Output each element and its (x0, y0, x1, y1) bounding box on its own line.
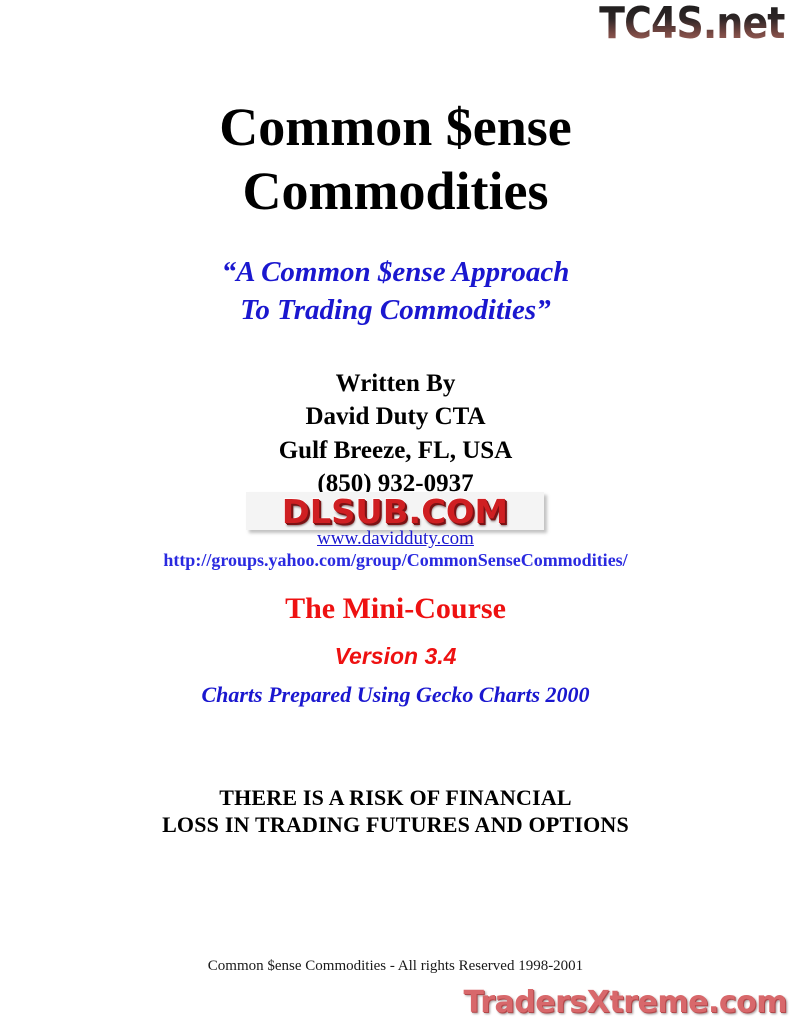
author-block: Written By David Duty CTA Gulf Breeze, F… (0, 367, 791, 500)
copyright-footer: Common $ense Commodities - All rights Re… (0, 958, 791, 975)
watermark-tc4s: TC4S.net (600, 2, 785, 46)
author-location: Gulf Breeze, FL, USA (0, 434, 791, 467)
disclaimer-line-2: LOSS IN TRADING FUTURES AND OPTIONS (0, 812, 791, 839)
charts-credit: Charts Prepared Using Gecko Charts 2000 (0, 682, 791, 708)
subtitle-line-2: To Trading Commodities” (0, 291, 791, 329)
title-line-1: Common $ense (0, 96, 791, 160)
disclaimer-line-1: THERE IS A RISK OF FINANCIAL (0, 785, 791, 812)
subtitle-line-1: “A Common $ense Approach (0, 253, 791, 291)
watermark-dlsub-text: DLSUB.COM (282, 495, 508, 528)
watermark-tradersxtreme: TradersXtreme.com (464, 988, 787, 1018)
yahoo-group-link[interactable]: http://groups.yahoo.com/group/CommonSens… (0, 550, 791, 571)
risk-disclaimer: THERE IS A RISK OF FINANCIAL LOSS IN TRA… (0, 785, 791, 839)
website-link[interactable]: www.davidduty.com (0, 528, 791, 550)
version-label: Version 3.4 (0, 643, 791, 670)
author-written-by: Written By (0, 367, 791, 400)
subtitle: “A Common $ense Approach To Trading Comm… (0, 253, 791, 330)
document-page: TC4S.net Common $ense Commodities “A Com… (0, 0, 791, 1024)
title-line-2: Commodities (0, 160, 791, 224)
author-name: David Duty CTA (0, 400, 791, 433)
page-title: Common $ense Commodities (0, 96, 791, 223)
course-label: The Mini-Course (0, 592, 791, 626)
watermark-dlsub: DLSUB.COM (246, 492, 544, 530)
